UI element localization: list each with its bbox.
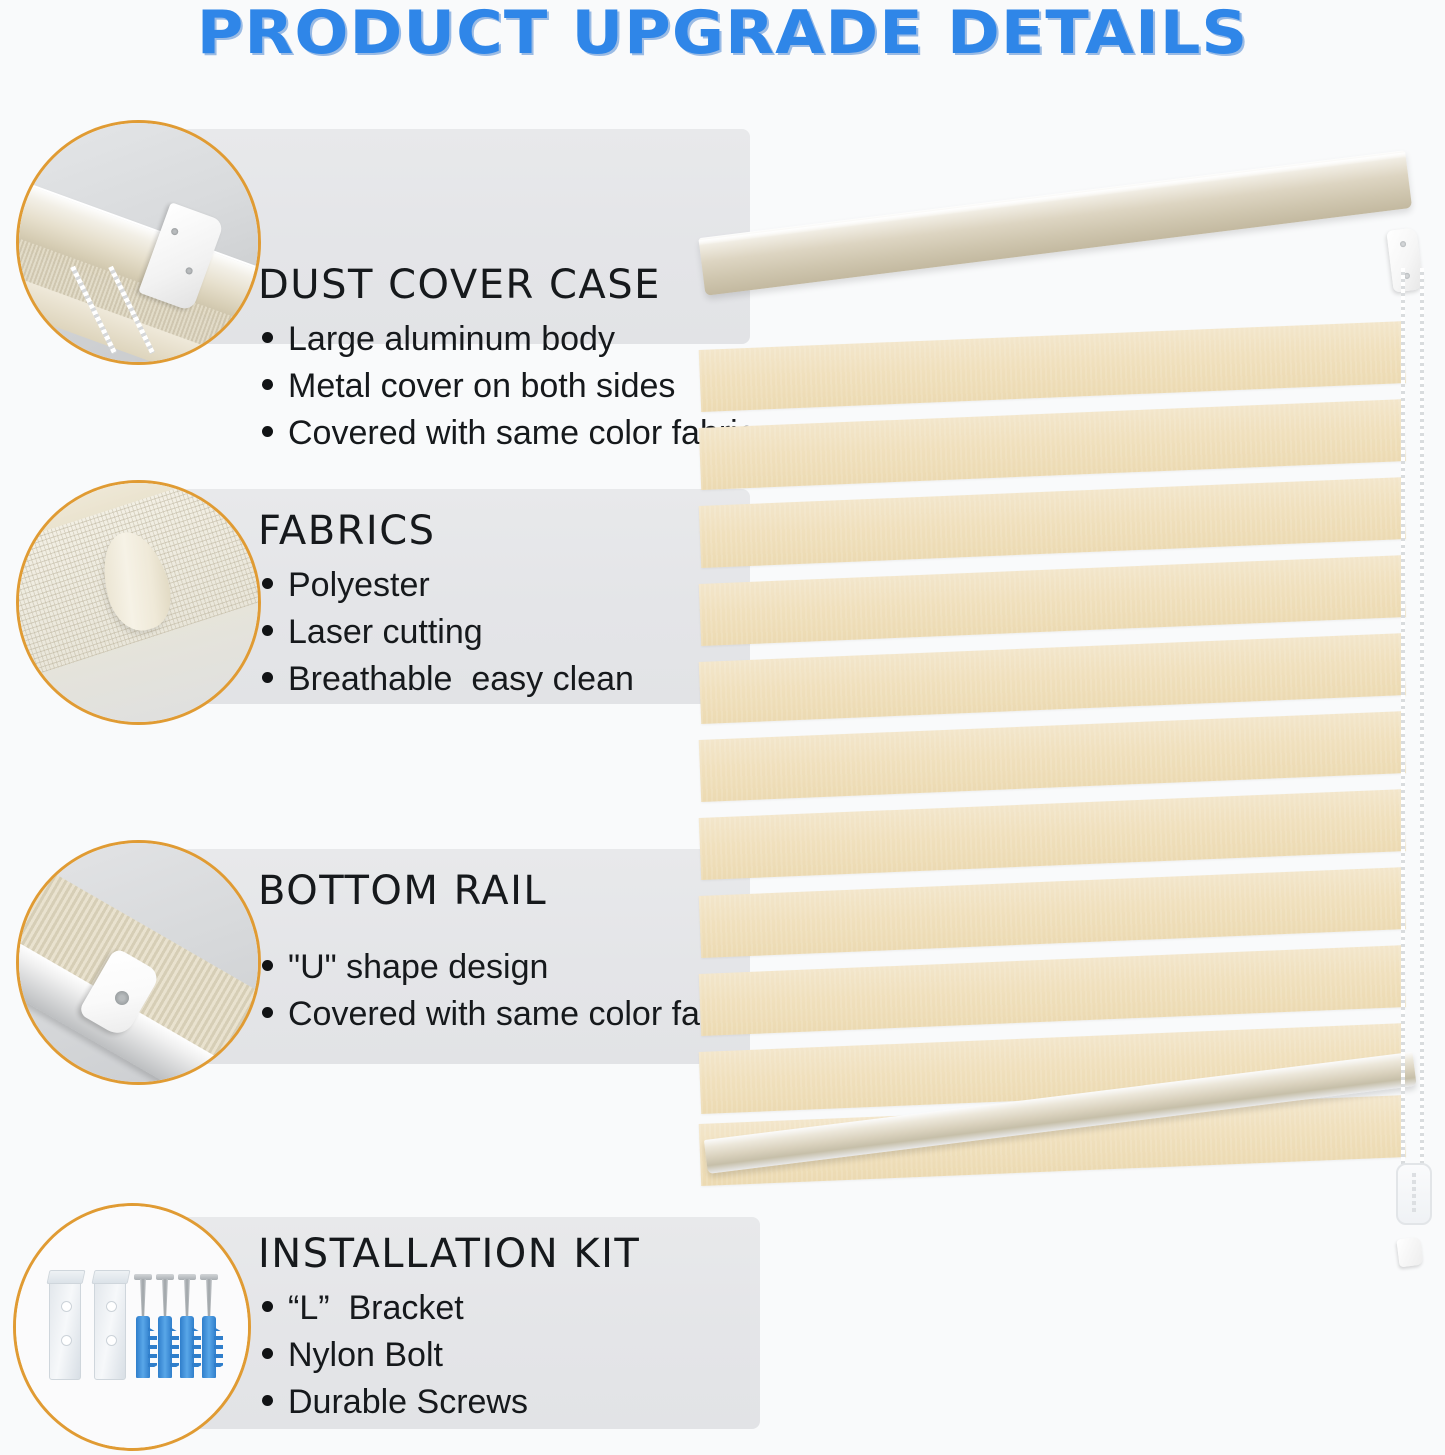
wall-plug-icon [158, 1316, 172, 1378]
bullet-text: "U" shape design [288, 948, 548, 987]
bullet-dot-icon [262, 426, 273, 437]
l-bracket-icon [49, 1278, 81, 1380]
feature-bullet: Large aluminum body [262, 320, 615, 359]
feature-bullet: Covered with same color fabric [262, 414, 755, 453]
bead-chain[interactable] [1401, 268, 1405, 1168]
bullet-dot-icon [262, 578, 273, 589]
blind-stripe [699, 789, 1406, 880]
blind-stripe [699, 399, 1406, 490]
bullet-dot-icon [262, 332, 273, 343]
installation-kit-photo [13, 1203, 251, 1451]
feature-bullet: Metal cover on both sides [262, 367, 675, 406]
blind-stripe [699, 867, 1406, 958]
wall-plug-icon [136, 1316, 150, 1378]
feature-bullet: "U" shape design [262, 948, 548, 987]
bullet-text: Breathable easy clean [288, 660, 634, 699]
fabric-swatch-photo [16, 480, 261, 725]
blind-stripe [699, 945, 1406, 1036]
bullet-dot-icon [262, 625, 273, 636]
wall-plug-icon [202, 1316, 216, 1378]
bullet-dot-icon [262, 1395, 273, 1406]
blind-stripe [699, 555, 1406, 646]
feature-bullet: Nylon Bolt [262, 1336, 443, 1375]
bullet-dot-icon [262, 1348, 273, 1359]
bottom-rail-end-cap [1396, 1237, 1423, 1268]
bullet-text: Nylon Bolt [288, 1336, 443, 1375]
feature-bullet: “L” Bracket [262, 1289, 464, 1328]
dust-cover-case-photo [16, 120, 261, 365]
bottom-rail-photo [16, 840, 261, 1085]
bullet-dot-icon [262, 672, 273, 683]
feature-title-dust-cover-case: DUST COVER CASE [258, 262, 661, 308]
l-bracket-icon [94, 1278, 126, 1380]
feature-bullet: Laser cutting [262, 613, 483, 652]
feature-block-bottom-rail: BOTTOM RAIL "U" shape design Covered wit… [0, 840, 780, 1085]
bullet-dot-icon [262, 1301, 273, 1312]
blind-stripe [699, 711, 1406, 802]
feature-bullet: Covered with same color fabric [262, 995, 755, 1034]
blind-stripe [699, 633, 1406, 724]
feature-block-installation-kit: INSTALLATION KIT “L” Bracket Nylon Bolt … [0, 1203, 790, 1455]
bullet-text: Polyester [288, 566, 430, 605]
wall-plug-icon [180, 1316, 194, 1378]
feature-bullet: Durable Screws [262, 1383, 528, 1422]
bullet-text: Covered with same color fabric [288, 995, 755, 1034]
bullet-text: “L” Bracket [288, 1289, 464, 1328]
infographic-page: PRODUCT UPGRADE DETAILS DUST COVER CASE … [0, 0, 1445, 1455]
bullet-dot-icon [262, 379, 273, 390]
bullet-dot-icon [262, 960, 273, 971]
headrail-end-cap [1386, 227, 1423, 292]
page-title: PRODUCT UPGRADE DETAILS [0, 0, 1445, 68]
chain-tensioner[interactable] [1396, 1163, 1432, 1225]
bullet-text: Durable Screws [288, 1383, 528, 1422]
feature-title-fabrics: FABRICS [258, 508, 436, 554]
feature-block-fabrics: FABRICS Polyester Laser cutting Breathab… [0, 480, 780, 725]
feature-bullet: Breathable easy clean [262, 660, 634, 699]
feature-title-installation-kit: INSTALLATION KIT [258, 1231, 640, 1277]
feature-title-bottom-rail: BOTTOM RAIL [258, 868, 547, 914]
feature-bullet: Polyester [262, 566, 430, 605]
blind-stripe [699, 321, 1406, 412]
bullet-text: Laser cutting [288, 613, 483, 652]
zebra-roller-blind [700, 228, 1445, 1243]
feature-block-dust-cover-case: DUST COVER CASE Large aluminum body Meta… [0, 120, 780, 365]
bullet-text: Covered with same color fabric [288, 414, 755, 453]
blind-headrail [698, 150, 1412, 296]
bullet-text: Metal cover on both sides [288, 367, 675, 406]
bead-chain[interactable] [1420, 268, 1424, 1168]
blind-stripe [699, 477, 1406, 568]
bullet-text: Large aluminum body [288, 320, 615, 359]
bullet-dot-icon [262, 1007, 273, 1018]
